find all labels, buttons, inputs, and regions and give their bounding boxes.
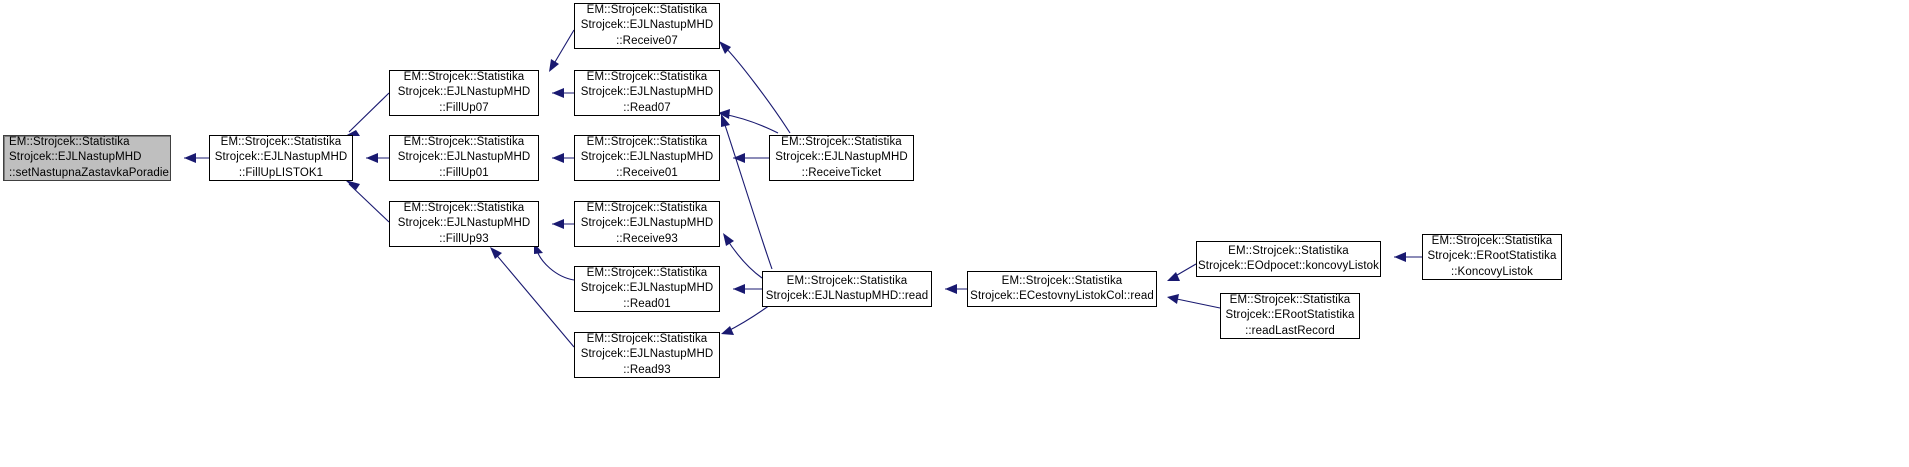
node-line-3: ::FillUpLISTOK1: [210, 166, 352, 181]
edge-fillupllistok1-to-setnastupnazastavkaporadie: [184, 153, 209, 163]
node-line-3: ::ReceiveTicket: [770, 166, 913, 181]
node-line-2: Strojcek::EJLNastupMHD: [575, 347, 719, 362]
node-line-1: EM::Strojcek::Statistika: [1423, 234, 1561, 249]
node-receiveticket[interactable]: EM::Strojcek::Statistika Strojcek::EJLNa…: [769, 135, 914, 181]
node-line-1: EM::Strojcek::Statistika: [210, 135, 352, 150]
node-line-2: Strojcek::EJLNastupMHD: [210, 150, 352, 165]
node-line-2: Strojcek::ERootStatistika: [1221, 308, 1359, 323]
node-line-1: EM::Strojcek::Statistika: [968, 274, 1156, 289]
node-line-3: ::Receive93: [575, 232, 719, 247]
node-line-1: EM::Strojcek::Statistika: [9, 135, 170, 150]
node-line-3: ::setNastupnaZastavkaPoradie: [9, 166, 170, 181]
node-line-3: ::FillUp07: [390, 101, 538, 116]
node-line-3: ::Read93: [575, 363, 719, 378]
node-line-2: Strojcek::EOdpocet::koncovyListok: [1197, 259, 1380, 274]
edge-receiveticket-to-receive07: [719, 41, 790, 133]
node-line-2: Strojcek::EJLNastupMHD: [575, 281, 719, 296]
node-read93[interactable]: EM::Strojcek::Statistika Strojcek::EJLNa…: [574, 332, 720, 378]
node-line-3: ::Read07: [575, 101, 719, 116]
node-line-1: EM::Strojcek::Statistika: [575, 3, 719, 18]
node-line-1: EM::Strojcek::Statistika: [1197, 244, 1380, 259]
edge-ecestovnylistokcol-read-to-read: [945, 284, 967, 294]
edge-receive07-to-fillup07: [549, 30, 574, 72]
node-read07[interactable]: EM::Strojcek::Statistika Strojcek::EJLNa…: [574, 70, 720, 116]
edge-fillup93-to-fillupllistok1: [345, 180, 389, 222]
node-receive01[interactable]: EM::Strojcek::Statistika Strojcek::EJLNa…: [574, 135, 720, 181]
node-line-2: Strojcek::EJLNastupMHD: [770, 150, 913, 165]
call-graph-canvas: EM::Strojcek::Statistika Strojcek::EJLNa…: [0, 0, 1909, 467]
edge-read07-to-fillup07: [552, 88, 574, 98]
node-line-1: EM::Strojcek::Statistika: [390, 201, 538, 216]
edge-receiveticket-to-read07: [718, 109, 778, 133]
node-line-1: EM::Strojcek::Statistika: [575, 201, 719, 216]
node-line-2: Strojcek::EJLNastupMHD: [575, 85, 719, 100]
node-line-1: EM::Strojcek::Statistika: [575, 266, 719, 281]
edge-koncovylistok-to-ecestovnylistokcol-read: [1167, 264, 1196, 281]
node-erootstatistika-readlastrecord[interactable]: EM::Strojcek::Statistika Strojcek::ERoot…: [1220, 293, 1360, 339]
node-line-1: EM::Strojcek::Statistika: [575, 135, 719, 150]
node-line-1: EM::Strojcek::Statistika: [575, 332, 719, 347]
node-ecestovnylistokcol-read[interactable]: EM::Strojcek::Statistika Strojcek::ECest…: [967, 271, 1157, 307]
node-line-1: EM::Strojcek::Statistika: [390, 70, 538, 85]
node-receive93[interactable]: EM::Strojcek::Statistika Strojcek::EJLNa…: [574, 201, 720, 247]
node-line-2: Strojcek::ECestovnyListokCol::read: [968, 289, 1156, 304]
edge-koncovylistok-root-to-koncovylistok: [1394, 252, 1422, 262]
node-line-2: Strojcek::EJLNastupMHD: [9, 150, 170, 165]
node-line-2: Strojcek::EJLNastupMHD::read: [763, 289, 931, 304]
edge-layer: [0, 0, 1909, 467]
edge-fillup07-to-fillupllistok1: [345, 93, 389, 136]
node-fillupllistok1[interactable]: EM::Strojcek::Statistika Strojcek::EJLNa…: [209, 135, 353, 181]
node-line-2: Strojcek::EJLNastupMHD: [575, 150, 719, 165]
edge-read-to-read01: [733, 284, 762, 294]
node-erootstatistika-koncovylistok[interactable]: EM::Strojcek::Statistika Strojcek::ERoot…: [1422, 234, 1562, 280]
node-receive07[interactable]: EM::Strojcek::Statistika Strojcek::EJLNa…: [574, 3, 720, 49]
node-line-3: ::Receive01: [575, 166, 719, 181]
edge-receive93-to-fillup93: [552, 219, 574, 229]
node-line-2: Strojcek::EJLNastupMHD: [575, 18, 719, 33]
edge-read-to-read07: [721, 114, 772, 269]
node-line-2: Strojcek::EJLNastupMHD: [575, 216, 719, 231]
edge-read93-to-fillup93: [490, 247, 574, 347]
node-line-2: Strojcek::ERootStatistika: [1423, 249, 1561, 264]
edge-fillup01-to-fillupllistok1: [366, 153, 389, 163]
edge-read-to-read93: [721, 305, 770, 335]
node-line-3: ::readLastRecord: [1221, 324, 1359, 339]
node-fillup07[interactable]: EM::Strojcek::Statistika Strojcek::EJLNa…: [389, 70, 539, 116]
node-eodpocet-koncovylistok[interactable]: EM::Strojcek::Statistika Strojcek::EOdpo…: [1196, 241, 1381, 277]
edge-receive01-to-fillup01: [552, 153, 574, 163]
node-fillup93[interactable]: EM::Strojcek::Statistika Strojcek::EJLNa…: [389, 201, 539, 247]
node-line-1: EM::Strojcek::Statistika: [575, 70, 719, 85]
node-line-3: ::FillUp93: [390, 232, 538, 247]
node-line-1: EM::Strojcek::Statistika: [1221, 293, 1359, 308]
node-line-3: ::Receive07: [575, 34, 719, 49]
node-line-3: ::Read01: [575, 297, 719, 312]
node-fillup01[interactable]: EM::Strojcek::Statistika Strojcek::EJLNa…: [389, 135, 539, 181]
node-setnastupnazastavkaporadie[interactable]: EM::Strojcek::Statistika Strojcek::EJLNa…: [3, 135, 171, 181]
edge-readlastrecord-to-ecestovnylistokcol-read: [1167, 294, 1220, 308]
node-line-1: EM::Strojcek::Statistika: [390, 135, 538, 150]
node-line-3: ::FillUp01: [390, 166, 538, 181]
node-read01[interactable]: EM::Strojcek::Statistika Strojcek::EJLNa…: [574, 266, 720, 312]
node-line-1: EM::Strojcek::Statistika: [770, 135, 913, 150]
edge-read01-to-fillup93: [534, 243, 574, 280]
edge-receiveticket-to-receive01: [733, 153, 769, 163]
node-line-2: Strojcek::EJLNastupMHD: [390, 150, 538, 165]
node-line-3: ::KoncovyListok: [1423, 265, 1561, 280]
node-ejlnastupmhd-read[interactable]: EM::Strojcek::Statistika Strojcek::EJLNa…: [762, 271, 932, 307]
node-line-2: Strojcek::EJLNastupMHD: [390, 216, 538, 231]
edge-read-to-receive93: [723, 233, 762, 278]
node-line-2: Strojcek::EJLNastupMHD: [390, 85, 538, 100]
node-line-1: EM::Strojcek::Statistika: [763, 274, 931, 289]
